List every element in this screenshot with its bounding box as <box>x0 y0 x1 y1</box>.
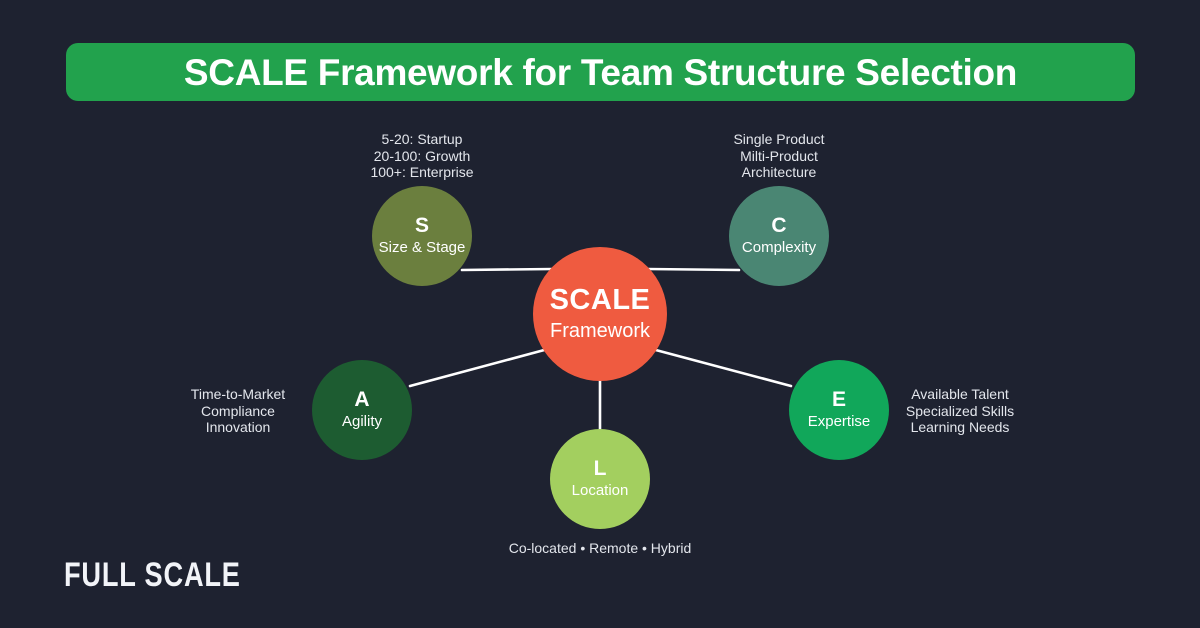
annotation-line: Innovation <box>191 419 285 436</box>
node-agility[interactable]: A Agility <box>312 360 412 460</box>
annotation-line: 5-20: Startup <box>370 131 473 148</box>
annotation-size-and-stage: 5-20: Startup 20-100: Growth 100+: Enter… <box>370 131 473 181</box>
annotation-expertise: Available Talent Specialized Skills Lear… <box>906 386 1014 436</box>
node-expertise[interactable]: E Expertise <box>789 360 889 460</box>
node-size-and-stage[interactable]: S Size & Stage <box>372 186 472 286</box>
annotation-line: Available Talent <box>906 386 1014 403</box>
annotation-line: Architecture <box>733 164 824 181</box>
node-s-name: Size & Stage <box>379 240 466 257</box>
node-scale-framework[interactable]: SCALE Framework <box>533 247 667 381</box>
annotation-line: Time-to-Market <box>191 386 285 403</box>
diagram-canvas: SCALE Framework for Team Structure Selec… <box>0 0 1200 628</box>
annotation-line: Compliance <box>191 403 285 420</box>
node-e-letter: E <box>832 389 846 410</box>
node-l-letter: L <box>594 458 607 479</box>
link-center-to-a <box>410 349 548 386</box>
annotation-line: 100+: Enterprise <box>370 164 473 181</box>
annotation-line: Specialized Skills <box>906 403 1014 420</box>
annotation-location: Co-located • Remote • Hybrid <box>509 540 692 557</box>
node-location[interactable]: L Location <box>550 429 650 529</box>
node-center-letter: SCALE <box>550 286 651 315</box>
node-complexity[interactable]: C Complexity <box>729 186 829 286</box>
annotation-line: Milti-Product <box>733 148 824 165</box>
link-center-to-c <box>647 269 739 270</box>
node-l-name: Location <box>572 483 629 500</box>
annotation-line: Co-located • Remote • Hybrid <box>509 540 692 557</box>
full-scale-logo: FULL SCALE <box>64 556 241 595</box>
node-s-letter: S <box>415 215 429 236</box>
annotation-agility: Time-to-Market Compliance Innovation <box>191 386 285 436</box>
annotation-line: 20-100: Growth <box>370 148 473 165</box>
annotation-complexity: Single Product Milti-Product Architectur… <box>733 131 824 181</box>
node-a-name: Agility <box>342 414 382 431</box>
annotation-line: Learning Needs <box>906 419 1014 436</box>
node-center-name: Framework <box>550 320 650 342</box>
node-e-name: Expertise <box>808 414 871 431</box>
link-center-to-s <box>462 269 553 270</box>
node-a-letter: A <box>354 389 369 410</box>
link-center-to-e <box>652 349 791 386</box>
annotation-line: Single Product <box>733 131 824 148</box>
node-c-name: Complexity <box>742 240 816 257</box>
node-c-letter: C <box>771 215 786 236</box>
